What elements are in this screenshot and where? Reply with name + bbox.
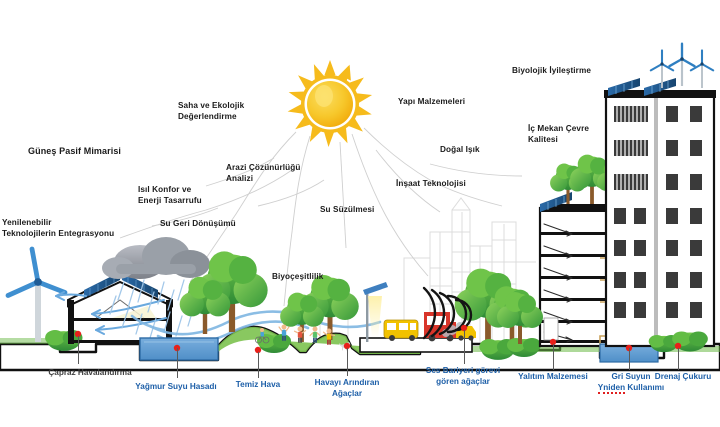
label-dogal-isik: Doğal Işık [440,145,480,156]
label-yapi-malzemeleri: Yapı Malzemeleri [398,97,465,108]
ground-floor-unit [544,318,558,340]
leader-line-temiz-hava [258,352,259,378]
city-bus [384,320,418,341]
callout-temiz-hava: Temiz Hava [222,380,294,391]
callout-havayi-arindiran-agaclar: Havayı Arındıran Ağaçlar [302,378,392,399]
highrise-apartment-tower [604,44,716,346]
label-isil-konfor: Isıl Konfor ve Enerji Tasarrufu [138,185,202,206]
leader-line-yagmur-suyu-hasadi [177,348,178,378]
label-biyolojik-iyilestirme: Biyolojik İyileştirme [512,66,591,77]
label-yenilenebilir-teknolojiler: Yenilenebilir Teknolojilerin Entegrasyon… [2,218,114,239]
callout-capraz-havalandirma: Çapraz Havalandırma [40,368,140,379]
rain-cloud-icon [102,237,210,279]
label-arazi-cozunurlugu-analizi: Arazi Çözünürlüğü Analizi [226,163,300,184]
wind-turbines-rooftop [651,44,713,88]
label-gunes-pasif-mimarisi: Güneş Pasif Mimarisi [28,146,121,157]
label-biyocesitlilik: Biyoçeşitlilik [272,272,323,283]
tower-divider [654,98,658,346]
tower-balconies [614,106,648,190]
callout-ses-bariyeri-agaclar: Ses Bariyeri görevi gören ağaçlar [413,366,513,387]
callout-yagmur-suyu-hasadi: Yağmur Suyu Hasadı [130,382,222,393]
label-ic-mekan-cevre-kalitesi: İç Mekan Çevre Kalitesi [528,124,589,145]
leader-line-gri-suyun-yeniden-kullanimi [629,348,630,370]
leader-line-havayi-arindiran-agaclar [347,348,348,376]
leader-line-capraz-havalandirma [78,336,79,364]
leader-line-ses-bariyeri-agaclar [464,330,465,364]
infographic-canvas: Güneş Pasif MimarisiYenilenebilir Teknol… [0,0,720,427]
spellcheck-underline: Yniden [598,383,625,394]
leader-line-drenaj-cukuru [678,348,679,370]
label-su-geri-donusumu: Su Geri Dönüşümü [160,219,236,230]
leader-line-yalitim-malzemesi [553,344,554,370]
house-cross-section [56,272,172,344]
label-insaat-teknolojisi: İnşaat Teknolojisi [396,179,466,190]
sun-icon [287,60,373,147]
label-su-suzulmesi: Su Süzülmesi [320,205,374,216]
callout-drenaj-cukuru: Drenaj Çukuru [646,372,720,383]
label-saha-ve-ekolojik-degerlendirme: Saha ve Ekolojik Değerlendirme [178,101,244,122]
